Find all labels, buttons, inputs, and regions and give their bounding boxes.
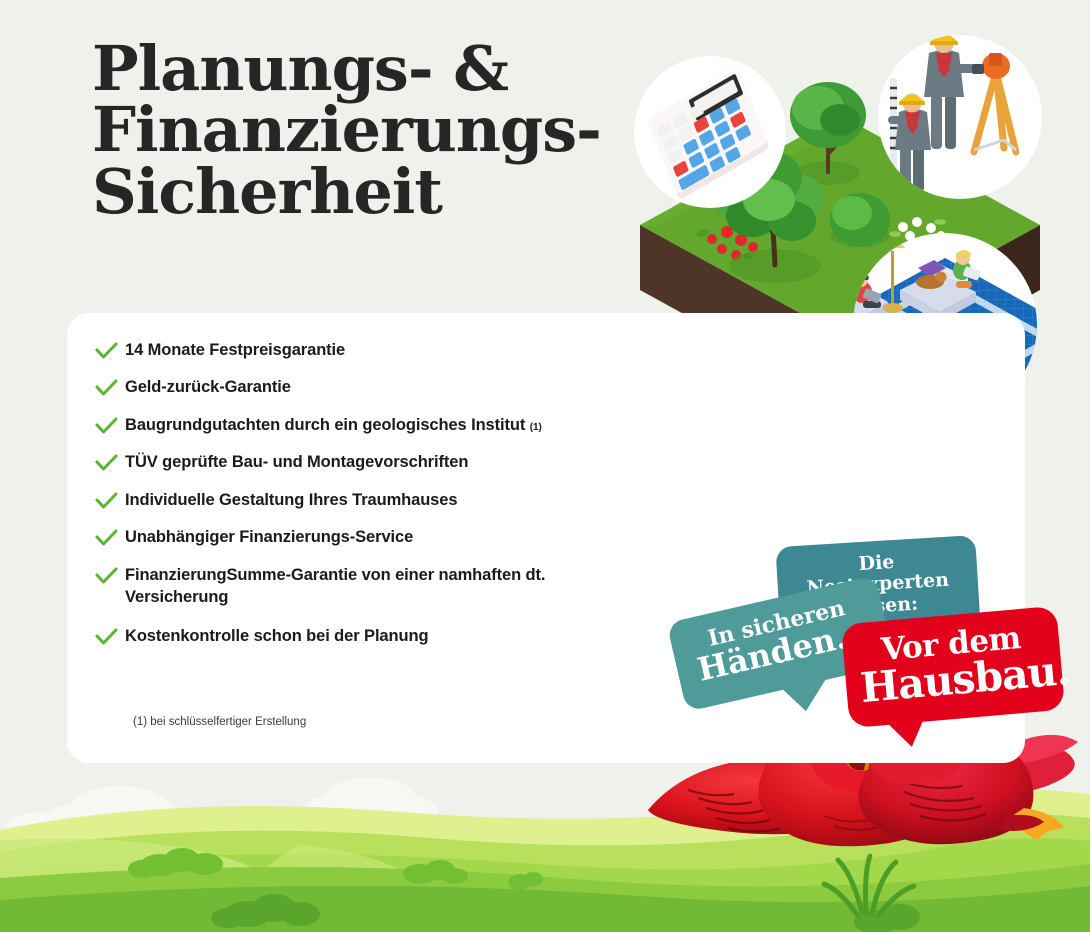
list-item-label: Individuelle Gestaltung Ihres Traumhause… bbox=[125, 491, 457, 509]
check-icon bbox=[95, 339, 125, 361]
check-icon bbox=[95, 376, 125, 398]
check-icon bbox=[95, 414, 125, 436]
footnote-text: (1) bei schlüsselfertiger Erstellung bbox=[133, 716, 306, 728]
list-item-label: FinanzierungSumme-Garantie von einer nam… bbox=[125, 566, 545, 606]
bush bbox=[830, 193, 890, 247]
list-item: Individuelle Gestaltung Ihres Traumhause… bbox=[95, 489, 695, 511]
speech-bubble-vor-dem-hausbau: Vor dem Hausbau. bbox=[841, 606, 1065, 728]
footnote-marker: (1) bbox=[530, 422, 542, 433]
list-item-label: Kostenkontrolle schon bei der Planung bbox=[125, 627, 428, 645]
check-icon bbox=[95, 451, 125, 473]
surveyors-inset bbox=[878, 33, 1042, 199]
list-item-label: Unabhängiger Finanzierungs-Service bbox=[125, 528, 413, 546]
list-item-label: TÜV geprüfte Bau- und Montagevorschrifte… bbox=[125, 453, 468, 471]
bubble-body: Vor dem Hausbau. bbox=[841, 606, 1065, 728]
check-icon bbox=[95, 489, 125, 511]
list-item: 14 Monate Festpreisgarantie bbox=[95, 339, 695, 361]
speech-bubbles-group: Die Nestexperten wissen: In sicheren Hän… bbox=[670, 535, 1090, 785]
calculator-inset bbox=[634, 56, 786, 208]
list-item-label: Baugrundgutachten durch ein geologisches… bbox=[125, 416, 525, 434]
check-icon bbox=[95, 564, 125, 586]
list-item: Baugrundgutachten durch ein geologisches… bbox=[95, 414, 695, 436]
list-item: Unabhängiger Finanzierungs-Service bbox=[95, 526, 695, 548]
list-item-label: Geld-zurück-Garantie bbox=[125, 378, 291, 396]
feature-checklist: 14 Monate Festpreisgarantie Geld-zurück-… bbox=[95, 339, 695, 662]
list-item: FinanzierungSumme-Garantie von einer nam… bbox=[95, 564, 695, 609]
bubble-tail bbox=[780, 675, 835, 715]
infographic-stage: Planungs- & Finanzierungs- Sicherheit bbox=[0, 0, 1090, 932]
list-item: Kostenkontrolle schon bei der Planung bbox=[95, 625, 695, 647]
check-icon bbox=[95, 625, 125, 647]
list-item: Geld-zurück-Garantie bbox=[95, 376, 695, 398]
list-item: TÜV geprüfte Bau- und Montagevorschrifte… bbox=[95, 451, 695, 473]
list-item-label: 14 Monate Festpreisgarantie bbox=[125, 341, 345, 359]
bubble-tail bbox=[883, 716, 927, 750]
check-icon bbox=[95, 526, 125, 548]
